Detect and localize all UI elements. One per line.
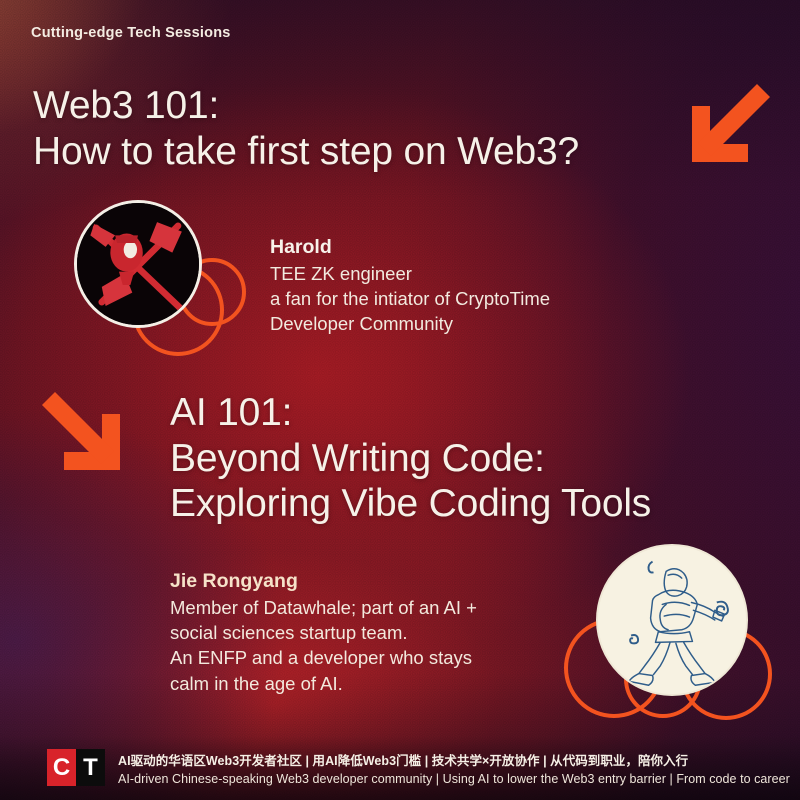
session-1-title-line-1: Web3 101: bbox=[33, 83, 579, 129]
session-2-title-line-1: AI 101: bbox=[170, 390, 651, 436]
speaker-2-bio-line-4: calm in the age of AI. bbox=[170, 671, 477, 696]
footer-tagline-chinese: AI驱动的华语区Web3开发者社区 | 用AI降低Web3门槛 | 技术共学×开… bbox=[118, 750, 790, 769]
speaker-2-name: Jie Rongyang bbox=[170, 568, 477, 594]
session-2-avatar-group bbox=[562, 540, 757, 730]
footer-tagline-english: AI-driven Chinese-speaking Web3 develope… bbox=[118, 772, 790, 786]
speaker-1-bio-line-2: a fan for the intiator of CryptoTime bbox=[270, 286, 550, 311]
session-1-avatar-group bbox=[60, 192, 250, 372]
session-2-title: AI 101: Beyond Writing Code: Exploring V… bbox=[170, 390, 651, 527]
logo-letter-c: C bbox=[47, 749, 76, 786]
speaker-1-name: Harold bbox=[270, 234, 550, 260]
arrow-down-left-icon bbox=[678, 84, 774, 176]
session-2-title-line-2: Beyond Writing Code: bbox=[170, 436, 651, 482]
arrow-down-right-icon bbox=[38, 392, 134, 484]
session-1-title: Web3 101: How to take first step on Web3… bbox=[33, 83, 579, 174]
cryptotime-logo: C T bbox=[47, 749, 105, 786]
speaker-2-bio-line-1: Member of Datawhale; part of an AI + bbox=[170, 595, 477, 620]
session-2-title-line-3: Exploring Vibe Coding Tools bbox=[170, 481, 651, 527]
session-1-speaker-info: Harold TEE ZK engineer a fan for the int… bbox=[270, 234, 550, 337]
speaker-2-bio-line-2: social sciences startup team. bbox=[170, 620, 477, 645]
speaker-2-bio-line-3: An ENFP and a developer who stays bbox=[170, 645, 477, 670]
speaker-1-bio-line-1: TEE ZK engineer bbox=[270, 261, 550, 286]
logo-letter-t: T bbox=[76, 749, 105, 786]
speaker-1-bio-line-3: Developer Community bbox=[270, 311, 550, 336]
eyebrow-label: Cutting-edge Tech Sessions bbox=[31, 25, 231, 41]
session-2-speaker-info: Jie Rongyang Member of Datawhale; part o… bbox=[170, 568, 477, 696]
avatar-jie-rongyang bbox=[596, 544, 748, 696]
poster-canvas: Cutting-edge Tech Sessions Web3 101: How… bbox=[0, 0, 800, 800]
session-1-title-line-2: How to take first step on Web3? bbox=[33, 129, 579, 175]
avatar-harold bbox=[74, 200, 202, 328]
footer-bar: C T AI驱动的华语区Web3开发者社区 | 用AI降低Web3门槛 | 技术… bbox=[0, 736, 800, 800]
